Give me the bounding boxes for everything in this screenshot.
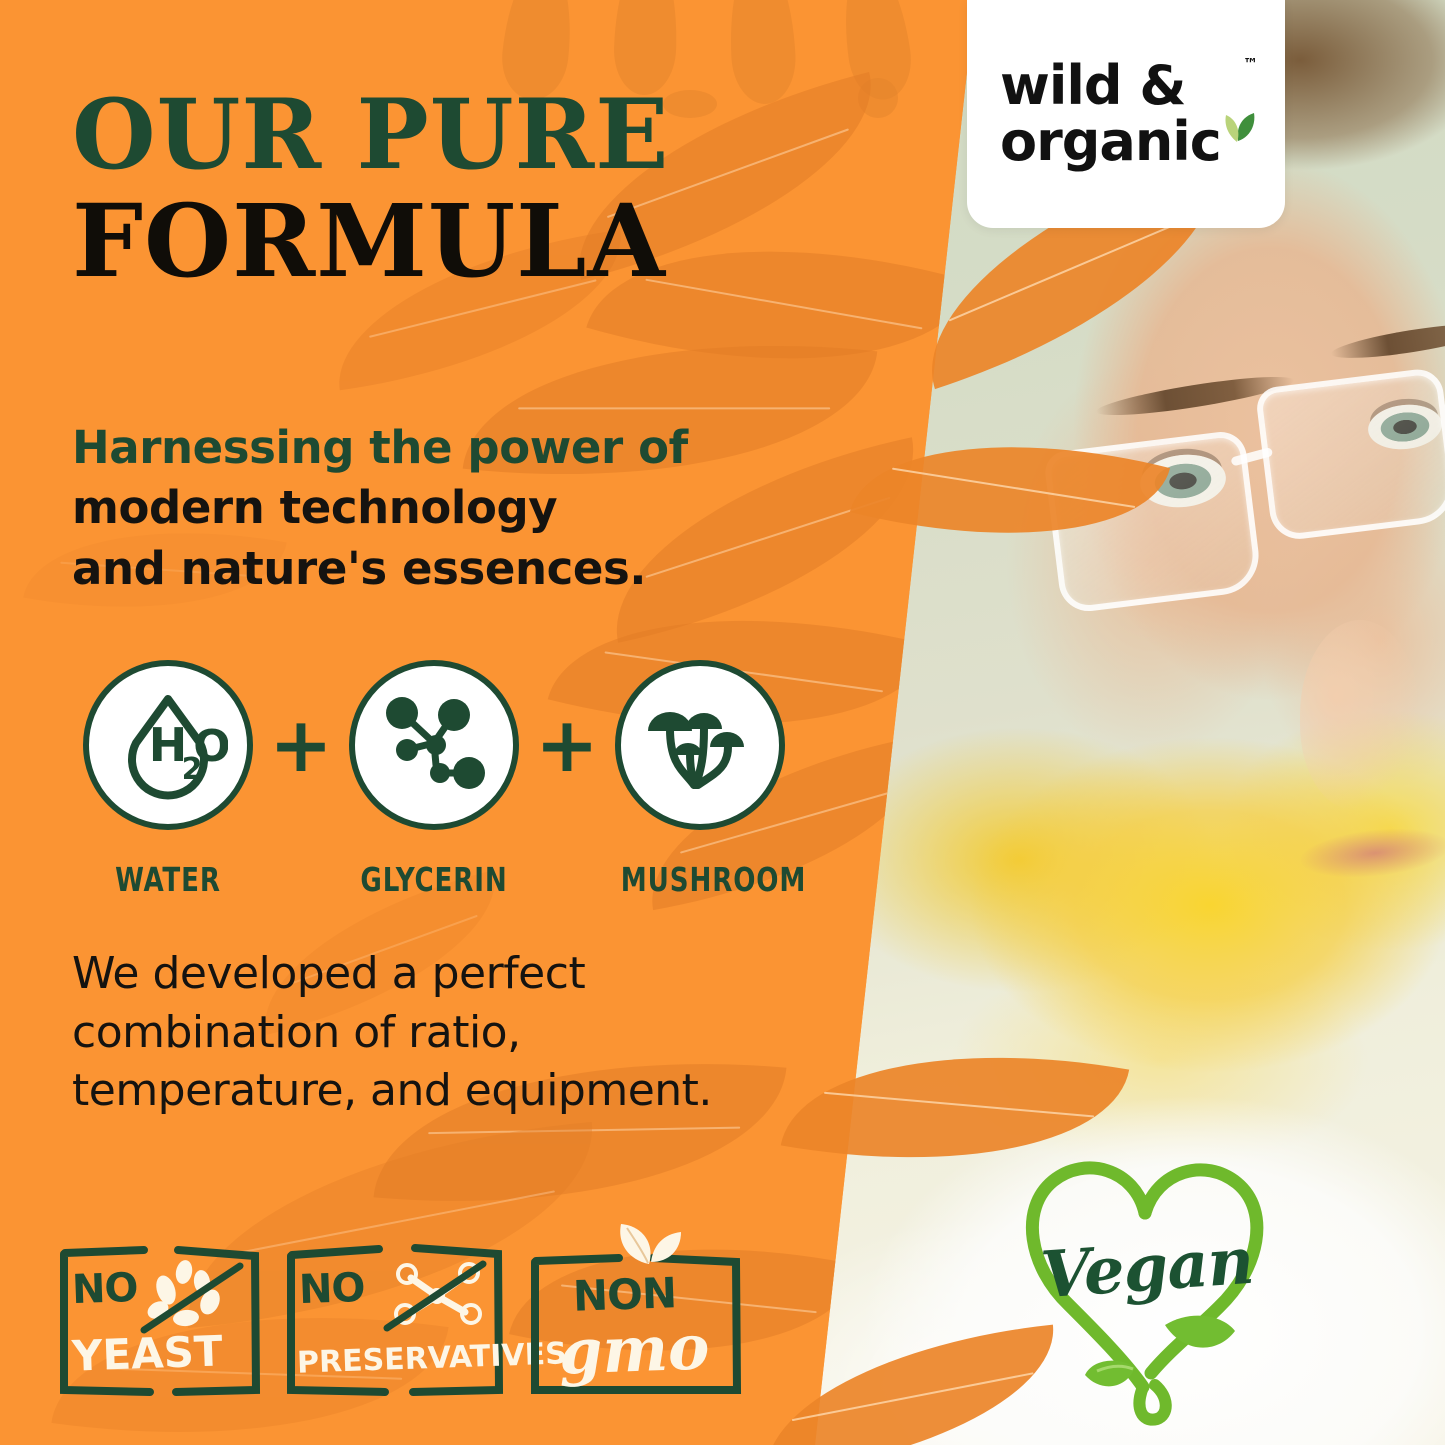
water-circle: H 2 O [83,660,253,830]
ingredient-label-mushroom: MUSHROOM [621,860,779,899]
glycerin-molecule-icon [374,685,494,805]
badge-word-yeast: YEAST [71,1326,223,1380]
claims-badges-row: NO YEAST [58,1240,745,1400]
molecule-crossed-out-icon [381,1256,491,1336]
badge-non-gmo: NON gmo [529,1240,745,1400]
two-leaves-icon [607,1214,693,1274]
eyebrow-right [1329,317,1445,365]
lips [1298,822,1445,883]
headline-line-2: FORMULA [72,190,792,292]
left-content: OUR PURE FORMULA Harnessing the power of… [0,0,840,1445]
ingredient-icons-row: H 2 O + [78,660,798,830]
poster-canvas: wild & organic ™ OUR PURE FORMULA Harnes… [0,0,1445,1445]
trademark-symbol: ™ [1243,55,1258,73]
ingredients-block: H 2 O + [78,660,798,899]
label-slot-mushroom: MUSHROOM [610,834,790,899]
plus-separator-2: + [524,707,610,783]
ingredient-water: H 2 O [78,660,258,830]
lead-copy-block: Harnessing the power of modern technolog… [72,418,772,599]
badge-prefix-yeast: NO [71,1265,138,1313]
mushroom-circle [615,660,785,830]
lead-copy-line-1: Harnessing the power of [72,418,772,478]
body-copy-line-1: We developed a perfect [72,945,792,1004]
badge-prefix-preservatives: NO [298,1265,365,1313]
brand-logo: wild & organic ™ [1000,61,1252,166]
lead-copy-line-3: and nature's essences. [72,539,772,599]
badge-word-gmo: gmo [558,1310,711,1388]
lead-copy-line-2: modern technology [72,478,772,538]
glycerin-circle [349,660,519,830]
label-slot-glycerin: GLYCERIN [344,834,524,899]
body-copy-line-2: combination of ratio, [72,1004,792,1063]
badge-no-yeast: NO YEAST [58,1240,263,1400]
ingredient-label-glycerin: GLYCERIN [355,860,513,899]
body-copy-line-3: temperature, and equipment. [72,1062,792,1121]
plus-separator-1: + [258,707,344,783]
logo-leaves-icon [1208,101,1268,145]
brand-logo-card[interactable]: wild & organic ™ [967,0,1285,228]
lens-right [1255,367,1445,543]
vegan-badge: Vegan [985,1135,1305,1435]
svg-text:O: O [193,721,228,772]
water-drop-h2o-icon: H 2 O [108,685,228,805]
ingredient-label-water: WATER [89,860,247,899]
ingredient-mushroom [610,660,790,830]
label-slot-water: WATER [78,834,258,899]
ingredient-labels-row: WATER GLYCERIN MUSHROOM [78,834,798,899]
headline-block: OUR PURE FORMULA [72,86,792,292]
headline-line-1: OUR PURE [72,86,792,184]
yeast-cells-crossed-out-icon [140,1258,250,1338]
body-copy-block: We developed a perfect combination of ra… [72,945,792,1121]
nose [1300,620,1420,810]
vegan-label: Vegan [1035,1223,1260,1313]
ingredient-glycerin [344,660,524,830]
mushroom-cluster-icon [640,685,760,805]
badge-no-preservatives: NO PRESERVATIVES [285,1240,507,1400]
